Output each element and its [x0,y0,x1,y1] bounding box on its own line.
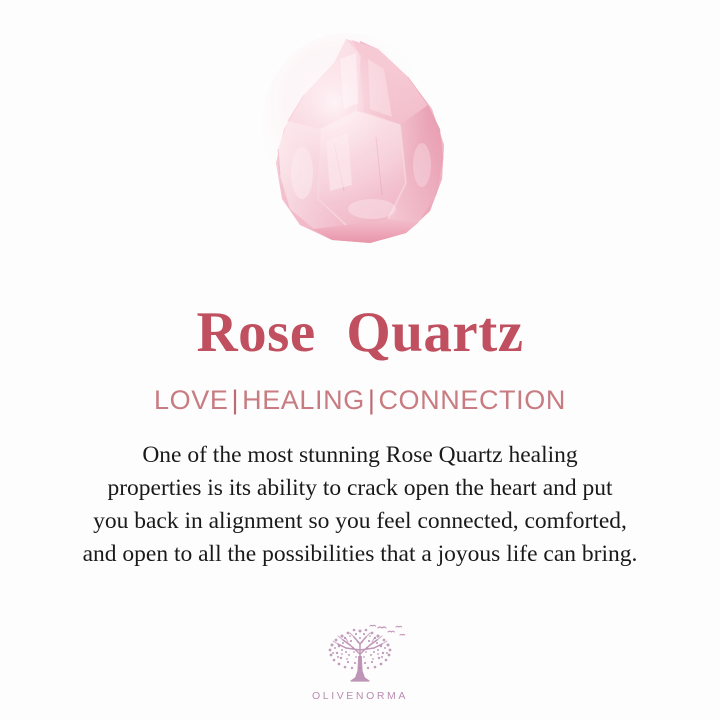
description-paragraph: One of the most stunning Rose Quartz hea… [20,439,700,571]
brand-logo: OLIVENORMA [0,624,720,702]
keyword-healing: HEALING [242,385,365,415]
rose-quartz-crystal-image [260,33,460,255]
description-line: One of the most stunning Rose Quartz hea… [20,439,700,472]
page-title: Rose Quartz [196,304,523,361]
hero-image-area [0,0,720,268]
keyword-love: LOVE [154,385,228,415]
brand-name: OLIVENORMA [312,690,408,702]
keyword-separator-1: | [228,385,242,415]
subtitle-keywords: LOVE|HEALING|CONNECTION [154,387,566,414]
description-line: properties is its ability to crack open … [20,472,700,505]
tree-of-life-icon [312,624,408,686]
keyword-separator-2: | [365,385,379,415]
description-line: and open to all the possibilities that a… [20,538,700,571]
rose-quartz-info-card: Rose Quartz LOVE|HEALING|CONNECTION One … [0,0,720,720]
description-line: you back in alignment so you feel connec… [20,505,700,538]
keyword-connection: CONNECTION [378,385,566,415]
